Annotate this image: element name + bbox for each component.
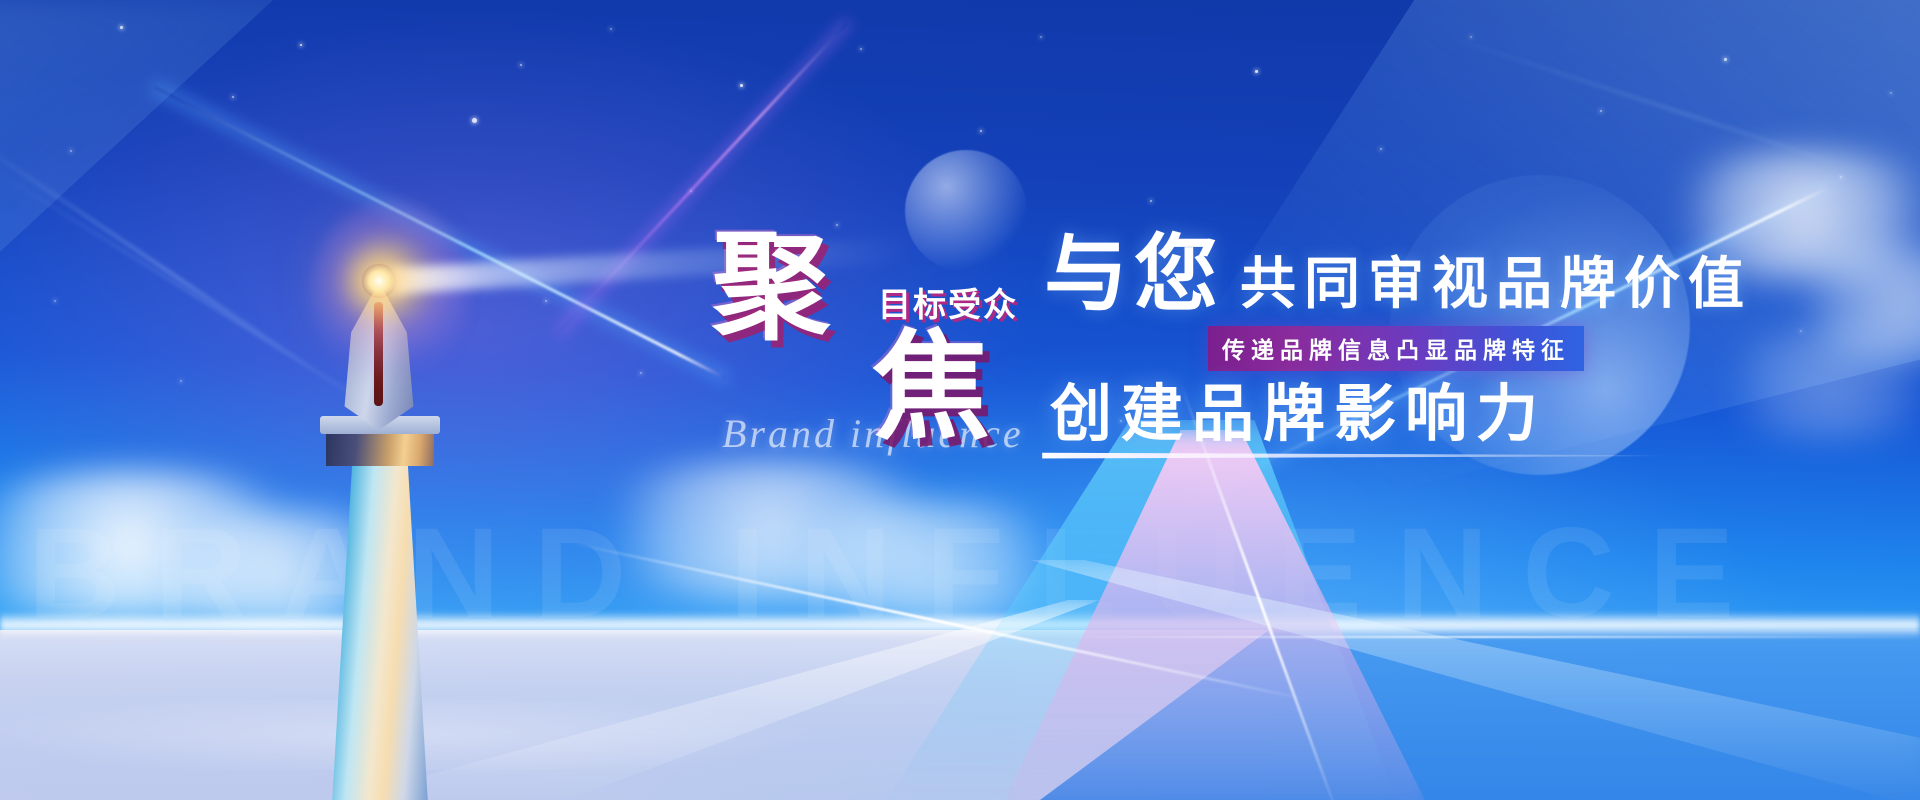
moon-icon (905, 150, 1027, 272)
cloud-right-2 (1770, 250, 1920, 360)
beam-cyan (880, 420, 1400, 800)
headline-underline (1042, 452, 1664, 459)
headline-line-a: 与您 共同审视品牌价值 (1044, 232, 1752, 316)
cloud-right-3 (1700, 330, 1920, 440)
headline-line-b: 创建品牌影响力 (1050, 384, 1547, 446)
lighthouse-tower (332, 464, 428, 800)
brand-banner: BRAND INFLUENCE 聚 目标受众 Brand influence 焦… (0, 0, 1920, 800)
target-audience-label: 目标受众 (878, 278, 1018, 326)
headline-focus-char-1: 聚 (712, 230, 830, 348)
headline-line-a-big: 与您 (1044, 232, 1224, 316)
ground-plane (0, 630, 1920, 800)
beacon-light-icon (362, 264, 396, 298)
cloud-center-2 (760, 500, 1090, 620)
beacon-beam (391, 236, 912, 294)
lighthouse-band (326, 432, 434, 466)
beam-white-right (1030, 560, 1920, 800)
cloud-left (0, 470, 340, 620)
headline-focus-char-2: 焦 (872, 330, 990, 448)
beam-pink (1000, 430, 1430, 800)
light-streak-3 (0, 130, 317, 372)
ground-wave (0, 700, 980, 770)
ray-horizon-right (1040, 636, 1920, 638)
subtitle-bar: 传递品牌信息凸显品牌特征 (1208, 326, 1584, 371)
headline-group: 聚 目标受众 Brand influence 焦 与您 共同审视品牌价值 传递品… (0, 0, 1920, 800)
pen-nib-lighthouse-icon (300, 240, 480, 800)
horizon-glow (0, 612, 1920, 638)
cloud-center (560, 460, 980, 600)
headline-line-a-mid: 共同审视品牌价值 (1240, 256, 1752, 316)
light-streak-5 (1430, 30, 1868, 174)
ground-plane-right (1040, 630, 1920, 800)
beacon-halo (310, 200, 470, 390)
ray-diagonal-left (568, 541, 1312, 702)
